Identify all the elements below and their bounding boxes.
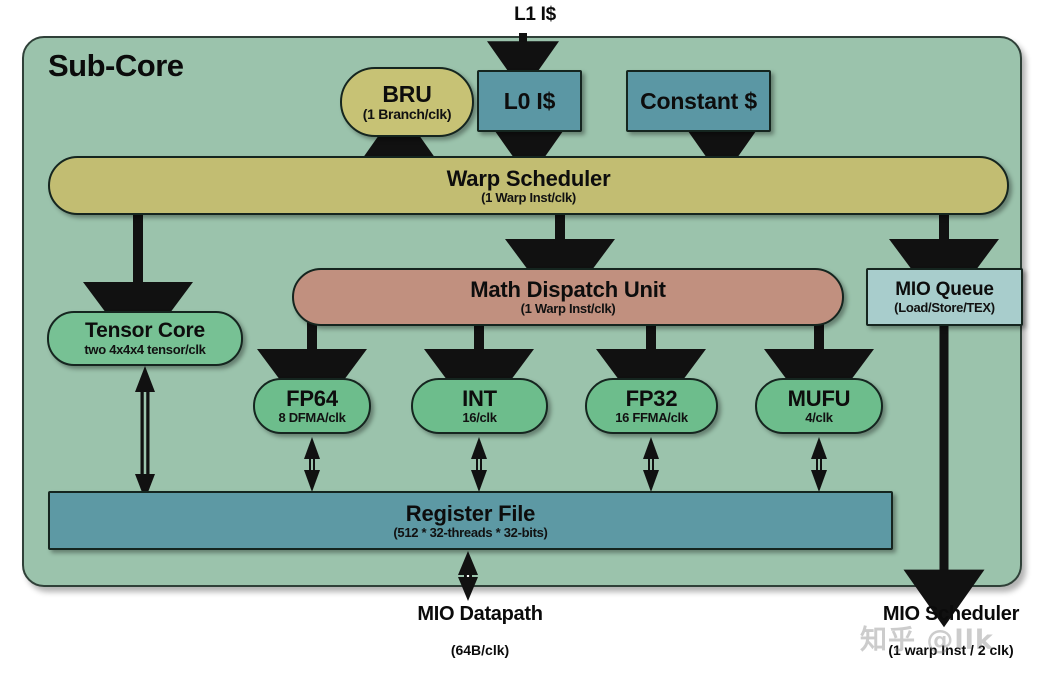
node-mio-queue-subtitle: (Load/Store/TEX)	[894, 301, 995, 315]
node-math-dispatch-unit-subtitle: (1 Warp Inst/clk)	[521, 302, 616, 316]
node-bru[interactable]: BRU (1 Branch/clk)	[340, 67, 474, 137]
node-mio-queue-title: MIO Queue	[895, 280, 994, 300]
label-mio-datapath: MIO Datapath (64B/clk)	[330, 603, 630, 658]
node-warp-scheduler-title: Warp Scheduler	[447, 167, 611, 190]
label-mio-datapath-subtitle: (64B/clk)	[451, 642, 509, 658]
node-fp64[interactable]: FP64 8 DFMA/clk	[253, 378, 371, 434]
page-title: Sub-Core	[48, 48, 184, 84]
node-register-file[interactable]: Register File (512 * 32-threads * 32-bit…	[48, 491, 893, 550]
node-register-file-title: Register File	[406, 502, 535, 525]
node-math-dispatch-unit[interactable]: Math Dispatch Unit (1 Warp Inst/clk)	[292, 268, 844, 326]
node-int-subtitle: 16/clk	[462, 411, 496, 425]
node-mio-queue[interactable]: MIO Queue (Load/Store/TEX)	[866, 268, 1023, 326]
node-math-dispatch-unit-title: Math Dispatch Unit	[470, 278, 666, 301]
node-fp64-subtitle: 8 DFMA/clk	[278, 411, 345, 425]
node-mufu-subtitle: 4/clk	[805, 411, 832, 425]
node-fp64-title: FP64	[286, 387, 338, 410]
node-constant-cache[interactable]: Constant $	[626, 70, 771, 132]
label-l1-instruction-cache-title: L1 I$	[514, 4, 556, 26]
node-l0-instruction-cache-title: L0 I$	[504, 89, 555, 113]
label-mio-datapath-title: MIO Datapath	[417, 603, 542, 626]
diagram-canvas: Sub-Core	[0, 0, 1048, 678]
node-warp-scheduler[interactable]: Warp Scheduler (1 Warp Inst/clk)	[48, 156, 1009, 215]
node-tensor-core-title: Tensor Core	[85, 320, 205, 342]
node-int[interactable]: INT 16/clk	[411, 378, 548, 434]
node-bru-subtitle: (1 Branch/clk)	[363, 107, 451, 122]
node-int-title: INT	[462, 387, 497, 410]
node-mufu-title: MUFU	[788, 387, 851, 410]
watermark-text: 知乎 @llk	[860, 618, 994, 657]
node-fp32-title: FP32	[626, 387, 678, 410]
label-l1-instruction-cache: L1 I$	[470, 4, 600, 26]
node-warp-scheduler-subtitle: (1 Warp Inst/clk)	[481, 191, 576, 205]
node-fp32[interactable]: FP32 16 FFMA/clk	[585, 378, 718, 434]
node-register-file-subtitle: (512 * 32-threads * 32-bits)	[393, 526, 547, 540]
node-tensor-core-subtitle: two 4x4x4 tensor/clk	[84, 343, 205, 357]
node-bru-title: BRU	[382, 82, 431, 106]
node-tensor-core[interactable]: Tensor Core two 4x4x4 tensor/clk	[47, 311, 243, 366]
node-l0-instruction-cache[interactable]: L0 I$	[477, 70, 582, 132]
node-fp32-subtitle: 16 FFMA/clk	[615, 411, 688, 425]
node-constant-cache-title: Constant $	[640, 89, 757, 113]
node-mufu[interactable]: MUFU 4/clk	[755, 378, 883, 434]
